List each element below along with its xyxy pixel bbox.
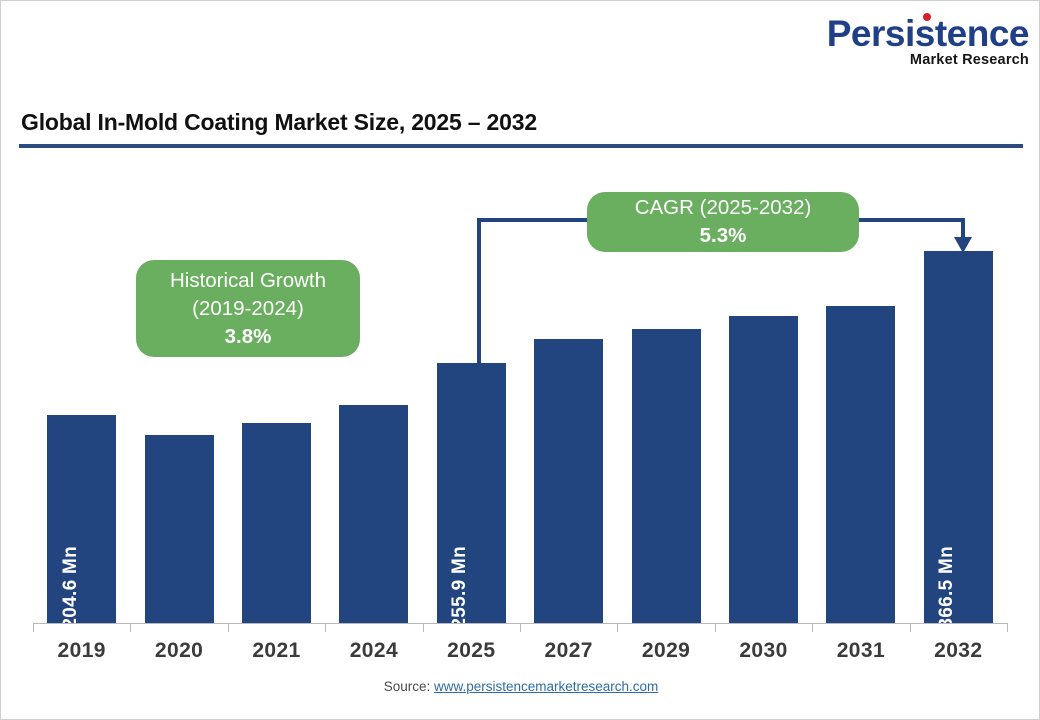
- chart-page: Persistence Market Research Global In-Mo…: [0, 0, 1040, 720]
- cagr-callout: CAGR (2025-2032) 5.3%: [587, 192, 859, 252]
- cagr-callout-value: 5.3%: [700, 222, 747, 250]
- historical-callout-line2: (2019-2024): [192, 295, 304, 323]
- historical-growth-callout: Historical Growth (2019-2024) 3.8%: [136, 260, 360, 357]
- cagr-callout-line1: CAGR (2025-2032): [635, 194, 812, 222]
- historical-callout-value: 3.8%: [225, 323, 272, 351]
- cagr-connector: [1, 1, 1040, 720]
- historical-callout-line1: Historical Growth: [170, 267, 326, 295]
